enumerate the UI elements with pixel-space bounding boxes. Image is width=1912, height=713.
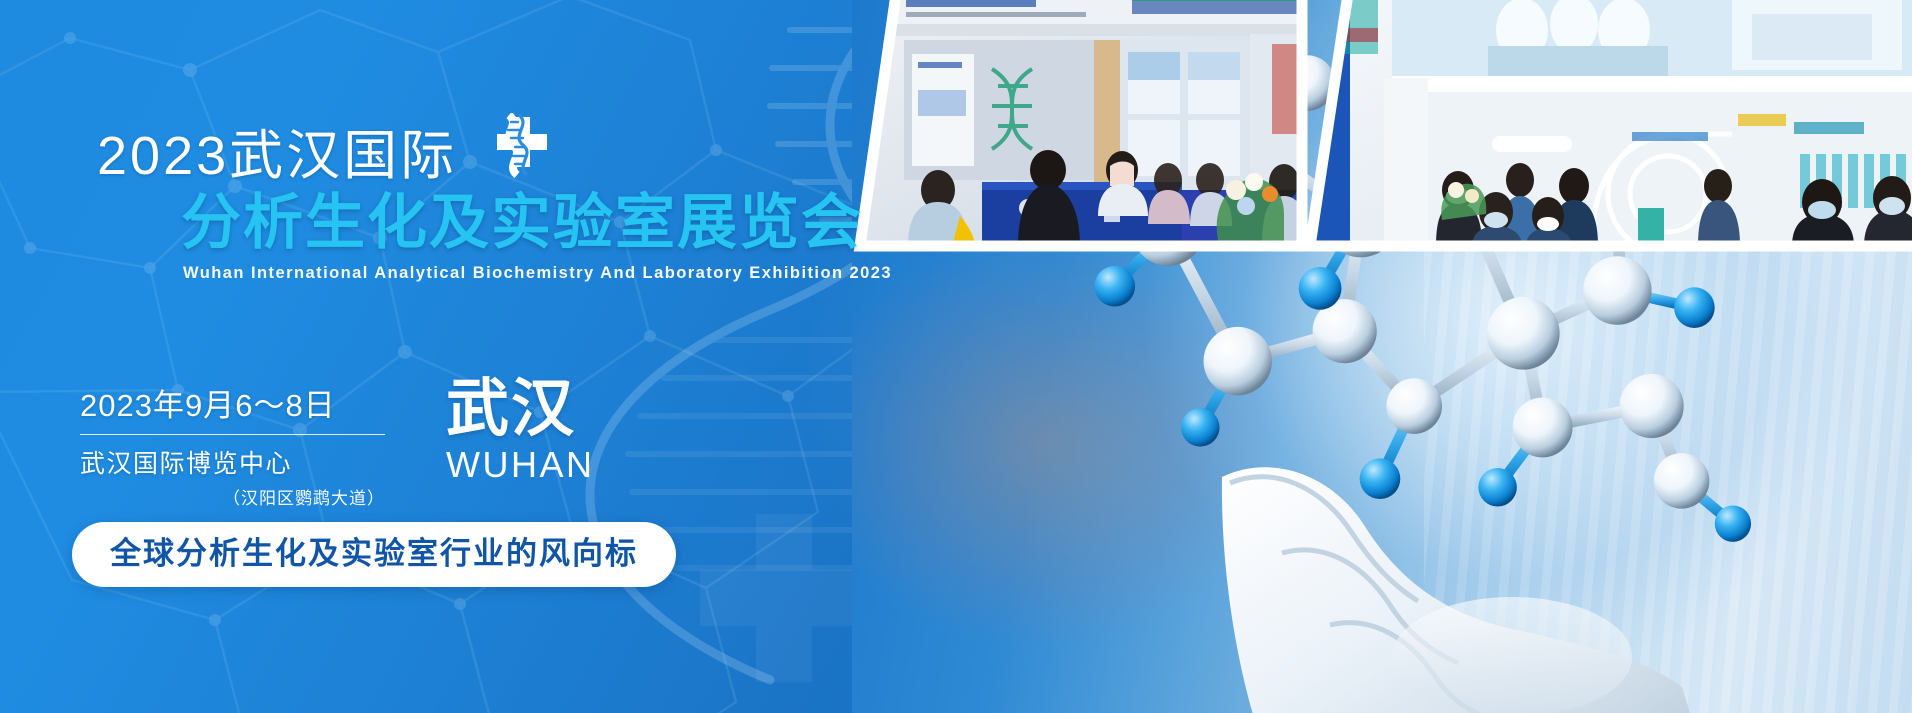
- hero-image-area: [852, 0, 1912, 713]
- page-title-english: Wuhan International Analytical Biochemis…: [183, 264, 857, 283]
- event-info-row: 2023年9月6～8日 武汉国际博览中心 （汉阳区鹦鹉大道） 武汉 WUHAN: [80, 378, 594, 509]
- date-venue-column: 2023年9月6～8日 武汉国际博览中心 （汉阳区鹦鹉大道）: [80, 378, 390, 509]
- photo-panel-group: [852, 0, 1912, 268]
- venue-address: （汉阳区鹦鹉大道）: [80, 484, 385, 509]
- page-title: 2023武汉国际: [97, 128, 857, 185]
- city-name-cn: 武汉: [446, 378, 594, 441]
- divider: [80, 434, 385, 435]
- tagline-pill: 全球分析生化及实验室行业的风向标: [72, 522, 676, 587]
- tagline-text: 全球分析生化及实验室行业的风向标: [110, 538, 638, 569]
- city-column: 武汉 WUHAN: [446, 378, 594, 483]
- medical-cross-dna-icon: [489, 113, 555, 179]
- event-date: 2023年9月6～8日: [80, 380, 390, 425]
- exhibition-crowd-photo: [1292, 0, 1912, 268]
- venue-name: 武汉国际博览中心: [80, 444, 390, 480]
- city-name-en: WUHAN: [446, 447, 594, 483]
- content-column: 2023武汉国际 分析生化及实验室展览会 Wuhan International…: [0, 0, 980, 713]
- page-subtitle: 分析生化及实验室展览会: [181, 191, 857, 255]
- title-block: 2023武汉国际 分析生化及实验室展览会 Wuhan International…: [97, 128, 857, 283]
- exhibition-banner: 2023武汉国际 分析生化及实验室展览会 Wuhan International…: [0, 0, 1912, 713]
